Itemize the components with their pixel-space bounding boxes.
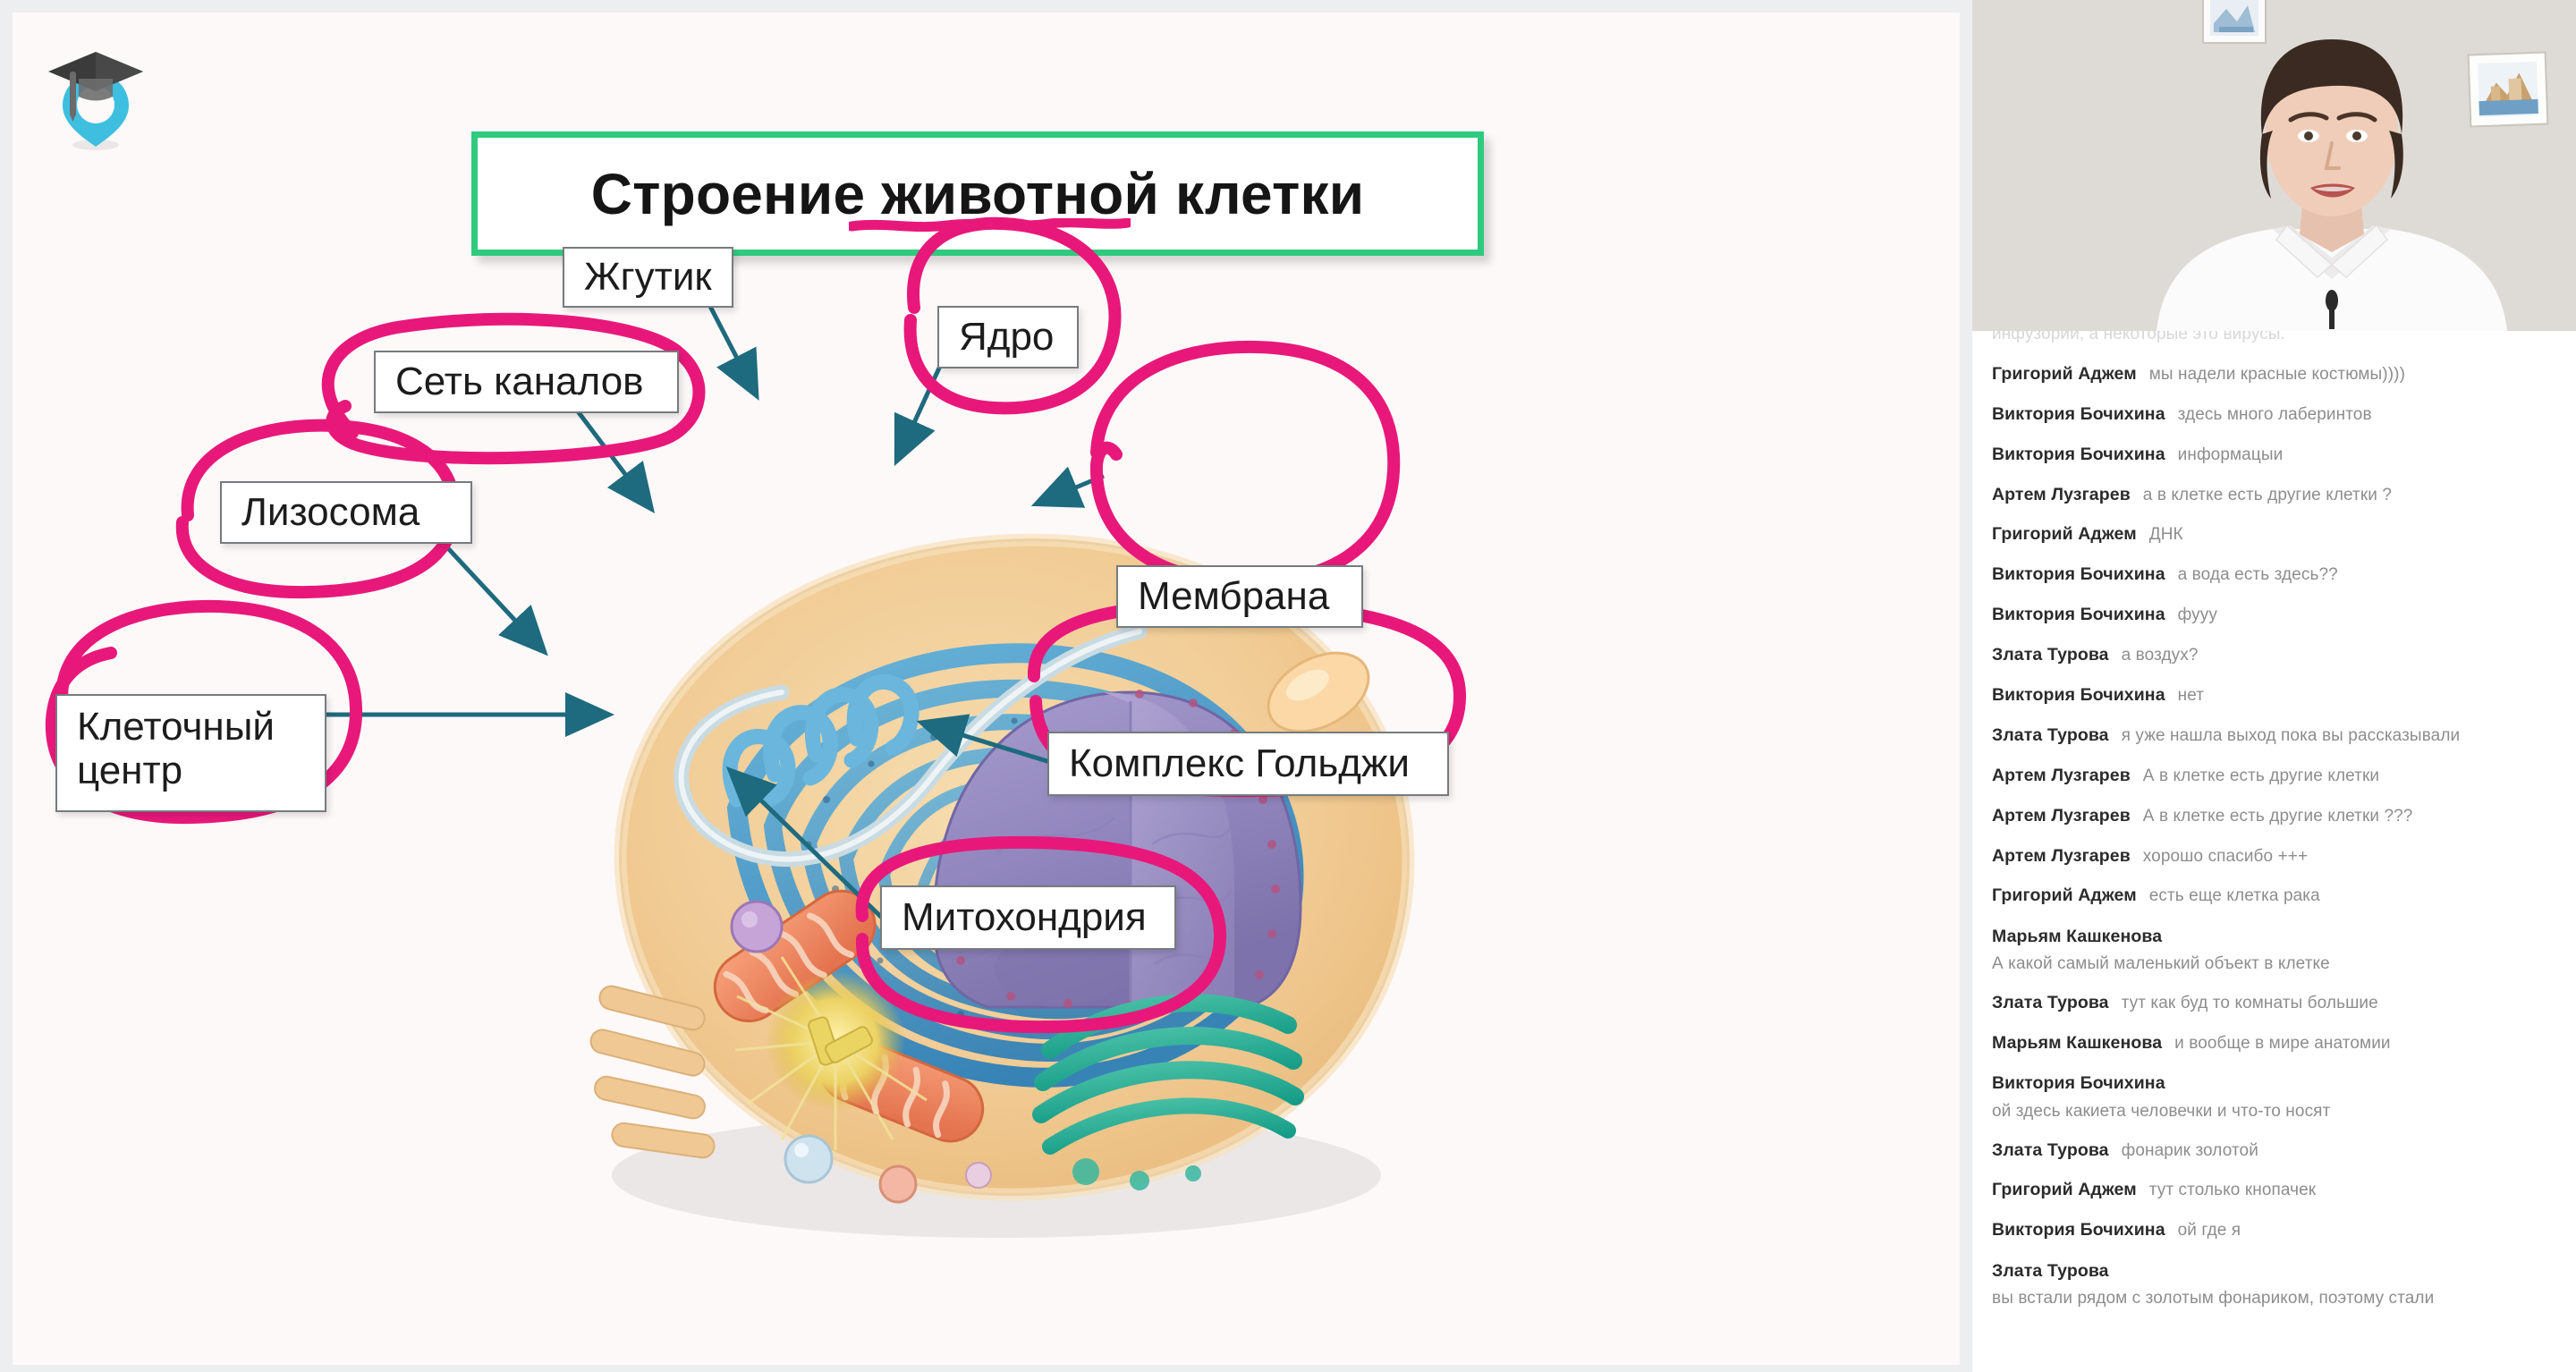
label-mitochondria-text: Митохондрия xyxy=(902,895,1147,939)
label-er-text: Сеть каналов xyxy=(395,360,644,403)
chat-author: Виктория Бочихина xyxy=(1992,404,2165,424)
chat-text: фууу xyxy=(2178,606,2217,624)
label-er[interactable]: Сеть каналов xyxy=(374,351,679,413)
chat-message: Злата Туровая уже нашла выход пока вы ра… xyxy=(1992,716,2556,756)
chat-text: я уже нашла выход пока вы рассказывали xyxy=(2122,726,2461,745)
chat-author: Григорий Аджем xyxy=(1992,1180,2137,1199)
chat-text: а в клетке есть другие клетки ? xyxy=(2143,486,2392,504)
chat-message: Григорий Аджемтут столько кнопачек xyxy=(1992,1171,2556,1211)
chat-author: Марьям Кашкенова xyxy=(1992,927,2162,946)
chat-text: А в клетке есть другие клетки xyxy=(2143,766,2379,785)
chat-text: тут столько кнопачек xyxy=(2149,1181,2316,1199)
chat-author: Григорий Аджем xyxy=(1992,885,2137,905)
chat-message: Виктория Бочихинаинформацыи xyxy=(1992,435,2556,475)
chat-message: Виктория Бочихиназдесь много лаберинтов xyxy=(1992,394,2556,435)
chat-author: Григорий Аджем xyxy=(1992,364,2137,384)
chat-text: здесь много лаберинтов xyxy=(2178,405,2372,424)
chat-message: Виктория Бочихинаой здесь какиета челове… xyxy=(1992,1063,2556,1131)
chat-text: и вообще в мире анатомии xyxy=(2174,1034,2390,1053)
chat-message: Артем ЛузгаревА в клетке есть другие кле… xyxy=(1992,756,2556,796)
label-membrane[interactable]: Мембрана xyxy=(1116,565,1363,628)
chat-message: Виктория Бочихинафууу xyxy=(1992,596,2556,636)
label-flagellum-text: Жгутик xyxy=(584,255,712,299)
label-golgi-text: Комплекс Гольджи xyxy=(1069,741,1410,785)
chat-text: фонарик золотой xyxy=(2122,1141,2258,1160)
chat-author: Виктория Бочихина xyxy=(1992,445,2165,464)
label-golgi[interactable]: Комплекс Гольджи xyxy=(1047,732,1449,796)
label-lysosome[interactable]: Лизосома xyxy=(220,481,472,544)
chat-message: инфузории, а некоторые это вирусы. xyxy=(1992,331,2556,354)
chat-message: Злата Туровавы встали рядом с золотым фо… xyxy=(1992,1251,2556,1318)
chat-message: Григорий Аджеммы надели красные костюмы)… xyxy=(1992,354,2556,394)
right-panel: инфузории, а некоторые это вирусы.Григор… xyxy=(1972,0,2576,1372)
chat-message: Виктория Бочихинаа вода есть здесь?? xyxy=(1992,555,2556,596)
chat-author: Артем Лузгарев xyxy=(1992,485,2131,504)
chat-author: Артем Лузгарев xyxy=(1992,846,2131,866)
animal-cell-illustration xyxy=(513,424,1462,1265)
chat-text: мы надели красные костюмы)))) xyxy=(2149,365,2405,384)
chat-author: Виктория Бочихина xyxy=(1992,564,2165,584)
chat-message: Виктория Бочихинанет xyxy=(1992,676,2556,716)
chat-message: Виктория Бочихинаой где я xyxy=(1992,1211,2556,1251)
chat-message: Злата Туроваа воздух? xyxy=(1992,636,2556,676)
chat-text: ой здесь какиета человечки и что-то нося… xyxy=(1992,1101,2556,1122)
chat-message: Марьям КашкеноваА какой самый маленький … xyxy=(1992,917,2556,984)
chat-author: Виктория Бочихина xyxy=(1992,685,2165,705)
screen-root: Строение животной клетки xyxy=(0,0,2576,1372)
slide-title-box: Строение животной клетки xyxy=(471,131,1484,256)
chat-message: Григорий АджемДНК xyxy=(1992,515,2556,555)
chat-text: хорошо спасибо +++ xyxy=(2143,847,2308,866)
chat-text: а воздух? xyxy=(2122,646,2199,665)
chat-author: Марьям Кашкенова xyxy=(1992,1033,2162,1053)
chat-message: Артем ЛузгаревА в клетке есть другие кле… xyxy=(1992,796,2556,836)
chat-text: вы встали рядом с золотым фонариком, поэ… xyxy=(1992,1288,2556,1309)
chat-message: Артем Лузгаревхорошо спасибо +++ xyxy=(1992,836,2556,877)
chat-author: Злата Турова xyxy=(1992,1261,2109,1281)
chat-author: Григорий Аджем xyxy=(1992,524,2137,544)
chat-text: информацыи xyxy=(2178,445,2284,464)
label-centrosome-text: Клеточный центр xyxy=(77,705,275,793)
chat-text: А какой самый маленький объект в клетке xyxy=(1992,953,2556,975)
chat-text: есть еще клетка рака xyxy=(2149,886,2320,905)
chat-author: Артем Лузгарев xyxy=(1992,766,2131,785)
label-nucleus[interactable]: Ядро xyxy=(937,306,1079,368)
chat-message: Злата Туровафонарик золотой xyxy=(1992,1131,2556,1171)
chat-text: ДНК xyxy=(2149,525,2183,544)
chat-text: А в клетке есть другие клетки ??? xyxy=(2143,807,2413,826)
label-lysosome-text: Лизосома xyxy=(241,490,419,534)
chat-author: Злата Турова xyxy=(1992,725,2109,745)
graduation-cap-map-pin-logo xyxy=(38,39,154,156)
chat-author: Виктория Бочихина xyxy=(1992,1220,2165,1240)
chat-message: Марьям Кашкеноваи вообще в мире анатомии xyxy=(1992,1023,2556,1063)
label-centrosome[interactable]: Клеточный центр xyxy=(55,694,326,812)
chat-author: Артем Лузгарев xyxy=(1992,806,2131,826)
label-mitochondria[interactable]: Митохондрия xyxy=(880,885,1176,950)
chat-text: нет xyxy=(2178,686,2204,705)
label-flagellum[interactable]: Жгутик xyxy=(563,247,733,308)
chat-text: тут как буд то комнаты большие xyxy=(2122,994,2378,1012)
chat-text: а вода есть здесь?? xyxy=(2178,565,2338,584)
chat-message-list[interactable]: инфузории, а некоторые это вирусы.Григор… xyxy=(1972,331,2576,1372)
chat-message: Григорий Аджеместь еще клетка рака xyxy=(1992,877,2556,917)
chat-message: Артем Лузгарева в клетке есть другие кле… xyxy=(1992,475,2556,515)
chat-author: Виктория Бочихина xyxy=(1992,1073,2165,1093)
chat-author: Виктория Бочихина xyxy=(1992,605,2165,624)
chat-author: Злата Турова xyxy=(1992,645,2109,665)
presenter-video-tile[interactable] xyxy=(1972,0,2576,331)
slide-canvas[interactable]: Строение животной клетки xyxy=(13,13,1960,1365)
chat-text: ой где я xyxy=(2178,1221,2241,1240)
label-membrane-text: Мембрана xyxy=(1138,574,1329,618)
chat-text: инфузории, а некоторые это вирусы. xyxy=(1992,331,2285,343)
label-nucleus-text: Ядро xyxy=(959,315,1054,359)
chat-author: Злата Турова xyxy=(1992,993,2109,1012)
presentation-stage: Строение животной клетки xyxy=(0,0,1972,1372)
page-title: Строение животной клетки xyxy=(591,161,1365,227)
chat-message: Злата Туроватут как буд то комнаты больш… xyxy=(1992,984,2556,1024)
chat-author: Злата Турова xyxy=(1992,1140,2109,1160)
